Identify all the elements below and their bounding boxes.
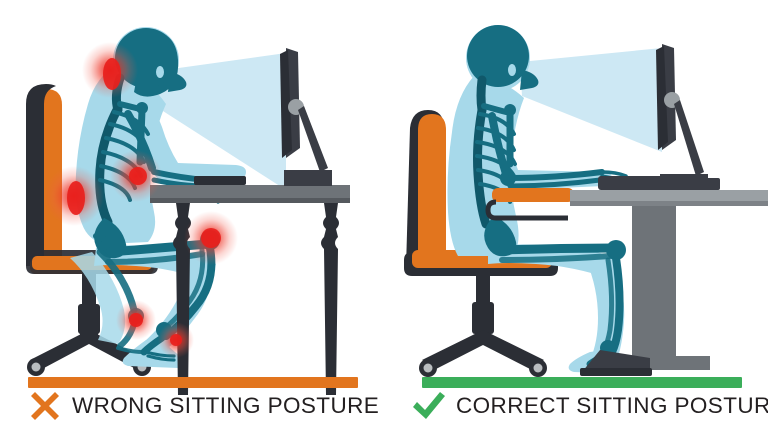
caption-correct: CORRECT SITTING POSTURE	[384, 383, 768, 429]
monitor-wrong	[280, 48, 332, 186]
wrong-posture-illustration	[0, 0, 384, 441]
panel-correct-posture: CORRECT SITTING POSTURE	[384, 0, 768, 441]
panel-wrong-posture: WRONG SITTING POSTURE	[0, 0, 384, 441]
pain-point-shoulder-elbow	[110, 150, 162, 202]
cross-icon	[22, 386, 68, 426]
pain-point-knee	[184, 211, 238, 265]
pain-point-lower-back	[44, 166, 104, 226]
correct-posture-illustration	[384, 0, 768, 441]
infographic-canvas: WRONG SITTING POSTURE	[0, 0, 768, 441]
pain-point-neck	[82, 42, 138, 98]
sight-line-cone	[520, 48, 662, 152]
check-icon	[406, 386, 452, 426]
caption-wrong-text: WRONG SITTING POSTURE	[72, 393, 379, 419]
pain-point-ankle	[116, 300, 156, 340]
pain-point-foot	[158, 322, 194, 358]
caption-wrong: WRONG SITTING POSTURE	[0, 383, 384, 429]
monitor-correct	[656, 44, 708, 190]
caption-correct-text: CORRECT SITTING POSTURE	[456, 393, 768, 419]
desk-wrong	[150, 176, 350, 395]
